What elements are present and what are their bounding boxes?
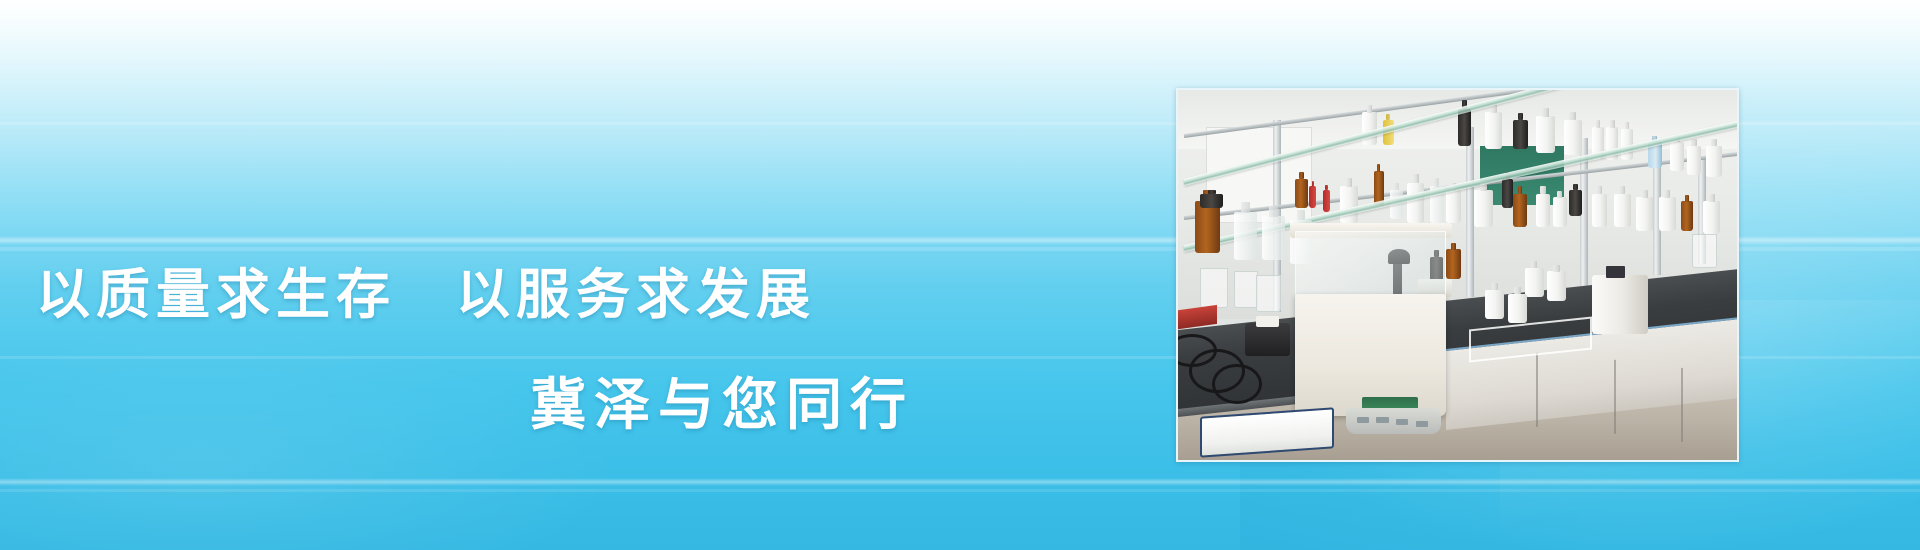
- lab-beaker: [1200, 268, 1228, 309]
- balance-key: [1396, 419, 1408, 425]
- reagent-bottle: [1234, 212, 1257, 260]
- reagent-bottle: [1195, 201, 1221, 253]
- lab-cabinet-seam: [1614, 360, 1616, 434]
- reagent-bottle: [1547, 271, 1566, 301]
- background-light-band: [0, 478, 1920, 486]
- promotional-banner: 以质量求生存 以服务求发展 冀泽与您同行: [0, 0, 1920, 550]
- reagent-bottle: [1407, 183, 1424, 224]
- background-wash-shape-left: [0, 330, 620, 550]
- reagent-bottle: [1309, 186, 1316, 208]
- reagent-bottle: [1513, 120, 1528, 150]
- reagent-bottle: [1636, 197, 1653, 230]
- reagent-bottle: [1446, 190, 1461, 223]
- reagent-bottle: [1525, 268, 1544, 298]
- reagent-bottle: [1262, 216, 1285, 260]
- balance-key: [1376, 417, 1388, 423]
- background-light-band: [0, 489, 1920, 492]
- reagent-bottle: [1614, 194, 1631, 227]
- slogan-secondary: 冀泽与您同行: [530, 378, 914, 434]
- reagent-bottle: [1659, 197, 1676, 230]
- reagent-bottle: [1446, 249, 1461, 279]
- reagent-bottle: [1564, 120, 1582, 155]
- balance-key: [1357, 417, 1369, 423]
- reagent-bottle: [1670, 142, 1685, 172]
- lab-shelf-post: [1466, 127, 1474, 297]
- reagent-bottle: [1513, 194, 1526, 227]
- lab-cabinet-seam: [1536, 352, 1538, 426]
- reagent-bottle: [1706, 146, 1722, 177]
- laboratory-photo: [1176, 88, 1739, 462]
- power-adapter-plug: [1256, 316, 1278, 327]
- reagent-bottle: [1536, 116, 1555, 153]
- reagent-bottle: [1323, 190, 1330, 212]
- reagent-bottle: [1474, 190, 1493, 227]
- reagent-bottle: [1592, 194, 1608, 227]
- lab-beaker: [1256, 275, 1281, 312]
- jerrycan-cap: [1606, 266, 1625, 278]
- plastic-jerrycan: [1592, 275, 1648, 334]
- balance-key: [1416, 421, 1428, 427]
- reagent-bottle: [1485, 290, 1504, 320]
- reagent-bottle: [1502, 179, 1513, 209]
- reagent-bottle: [1295, 179, 1307, 209]
- balance-draft-shield: [1295, 231, 1446, 301]
- lab-beaker: [1692, 234, 1717, 267]
- slogan-primary: 以质量求生存 以服务求发展: [36, 268, 816, 322]
- lab-beaker: [1234, 271, 1259, 308]
- reagent-bottle: [1536, 194, 1551, 227]
- reagent-bottle: [1553, 197, 1568, 227]
- lab-cabinet-seam: [1681, 367, 1683, 441]
- reagent-bottle: [1508, 294, 1527, 324]
- power-adapter: [1245, 323, 1290, 356]
- reagent-bottle: [1200, 194, 1222, 209]
- reagent-bottle: [1340, 186, 1358, 223]
- reagent-bottle: [1703, 201, 1720, 234]
- reagent-bottle: [1485, 112, 1502, 149]
- reagent-bottle: [1687, 146, 1702, 176]
- power-cable: [1212, 364, 1262, 405]
- laboratory-photo-content: [1178, 90, 1737, 460]
- reagent-bottle: [1681, 201, 1693, 231]
- reagent-bottle: [1569, 190, 1581, 216]
